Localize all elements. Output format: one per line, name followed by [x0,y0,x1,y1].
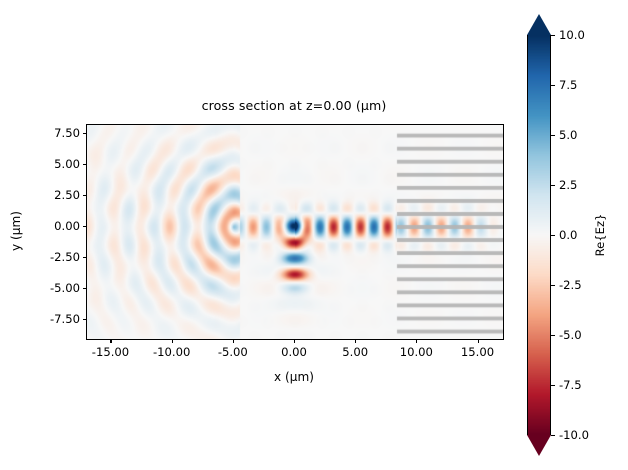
colorbar-tick-mark [551,35,555,36]
colorbar-tick-mark [551,335,555,336]
colorbar-tick-label: 7.5 [559,78,577,92]
y-tick-mark [83,288,87,289]
y-tick-mark [83,257,87,258]
colorbar-gradient [527,35,551,435]
colorbar-tick-label: -10.0 [559,428,589,442]
x-tick-label: -5.00 [218,345,248,359]
colorbar-tick-mark [551,435,555,436]
y-tick-mark [83,226,87,227]
plot-title: cross section at z=0.00 (µm) [86,98,502,113]
colorbar-tick-label: 0.0 [559,228,577,242]
colorbar-tick-label: 2.5 [559,178,577,192]
x-tick-label: -15.00 [92,345,129,359]
x-tick-label: 10.00 [400,345,433,359]
x-tick-label: -10.00 [153,345,190,359]
figure-canvas: cross section at z=0.00 (µm) 7.505.002.5… [0,0,628,470]
colorbar-tick-mark [551,385,555,386]
x-tick-mark [355,339,356,343]
x-tick-label: 15.00 [461,345,494,359]
y-tick-label: 0.00 [40,219,80,233]
colorbar-tick-mark [551,135,555,136]
x-tick-label: 0.00 [281,345,307,359]
field-heatmap [87,125,503,339]
colorbar-tick-label: 5.0 [559,128,577,142]
x-tick-mark [233,339,234,343]
colorbar-tick-label: 10.0 [559,28,585,42]
colorbar-tick-label: -7.5 [559,378,582,392]
colorbar-tick-mark [551,185,555,186]
y-tick-label: 5.00 [40,157,80,171]
y-tick-mark [83,195,87,196]
heatmap-axes [86,124,504,340]
colorbar [527,14,551,456]
colorbar-tick-mark [551,235,555,236]
x-tick-mark [416,339,417,343]
x-axis-label: x (µm) [86,370,502,384]
y-tick-label: 7.50 [40,126,80,140]
x-tick-label: 5.00 [342,345,368,359]
y-tick-label: -5.00 [40,281,80,295]
y-tick-label: 2.50 [40,188,80,202]
colorbar-extend-bottom-icon [527,435,551,456]
colorbar-tick-label: -5.0 [559,328,582,342]
x-tick-mark [478,339,479,343]
colorbar-extend-top-icon [527,14,551,35]
colorbar-tick-mark [551,285,555,286]
y-tick-label: -2.50 [40,250,80,264]
x-tick-mark [172,339,173,343]
colorbar-label: Re{Ez} [593,214,607,257]
y-tick-mark [83,133,87,134]
colorbar-tick-label: -2.5 [559,278,582,292]
y-tick-mark [83,319,87,320]
x-tick-mark [110,339,111,343]
y-tick-label: -7.50 [40,312,80,326]
y-tick-mark [83,164,87,165]
y-axis-label: y (µm) [9,161,23,301]
x-tick-mark [294,339,295,343]
colorbar-tick-mark [551,85,555,86]
